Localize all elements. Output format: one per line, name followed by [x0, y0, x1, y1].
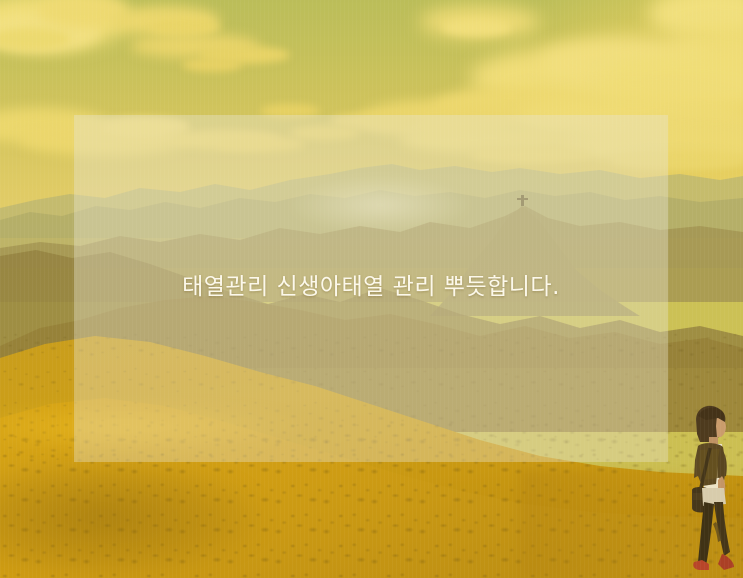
caption-text: 태열관리 신생아태열 관리 뿌듯합니다.	[74, 272, 668, 302]
screenshot-canvas: 태열관리 신생아태열 관리 뿌듯합니다.	[0, 0, 743, 578]
walking-woman	[676, 404, 743, 578]
